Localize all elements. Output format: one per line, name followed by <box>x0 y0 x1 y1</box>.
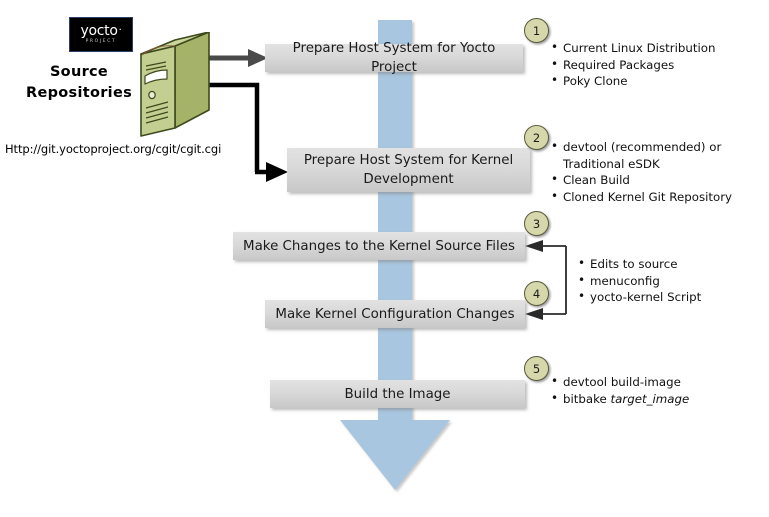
step-badge-2: 2 <box>524 125 549 150</box>
step-box-4[interactable]: Make Kernel Configuration Changes <box>265 300 525 328</box>
source-label-line2: Repositories <box>20 83 138 104</box>
list-item: Poky Clone <box>551 73 715 90</box>
step-3-4-bullet-list: Edits to source menuconfig yocto-kernel … <box>578 256 701 306</box>
list-item-emphasis: target_image <box>611 392 690 406</box>
list-item: Current Linux Distribution <box>551 40 715 57</box>
yocto-logo-subtitle: PROJECT <box>86 39 117 45</box>
list-item: menuconfig <box>578 273 701 290</box>
step-badge-3: 3 <box>524 211 549 236</box>
step-box-5[interactable]: Build the Image <box>270 380 525 408</box>
yocto-logo-word: yocto· <box>81 24 122 38</box>
arrow-server-to-step1 <box>208 49 268 67</box>
step-2-bullet-list: devtool (recommended) or Traditional eSD… <box>551 139 732 205</box>
yocto-project-logo: yocto· PROJECT <box>69 17 133 52</box>
list-item: devtool (recommended) or Traditional eSD… <box>551 139 723 172</box>
main-flow-arrow-icon <box>340 20 460 500</box>
step-box-2[interactable]: Prepare Host System for Kernel Developme… <box>287 148 530 192</box>
feedback-bracket-step3-step4 <box>525 240 566 320</box>
step-badge-5: 5 <box>524 356 549 381</box>
list-item: devtool build-image <box>551 374 689 391</box>
list-item-text: devtool build-image <box>563 375 681 389</box>
list-item: yocto-kernel Script <box>578 289 701 306</box>
step-box-3[interactable]: Make Changes to the Kernel Source Files <box>233 232 525 260</box>
list-item-text: bitbake <box>563 392 611 406</box>
step-box-1[interactable]: Prepare Host System for Yocto Project <box>265 44 523 72</box>
arrow-server-to-step2 <box>208 85 288 182</box>
server-tower-icon <box>133 32 213 140</box>
list-item: bitbake target_image <box>551 391 689 408</box>
list-item: Edits to source <box>578 256 701 273</box>
source-label-line1: Source <box>20 62 138 83</box>
step-1-bullet-list: Current Linux Distribution Required Pack… <box>551 40 715 90</box>
step-badge-4: 4 <box>524 281 549 306</box>
list-item: Clean Build <box>551 172 732 189</box>
source-repositories-url: Http://git.yoctoproject.org/cgit/cgit.cg… <box>5 142 221 156</box>
list-item: Cloned Kernel Git Repository <box>551 189 732 206</box>
step-5-bullet-list: devtool build-image bitbake target_image <box>551 374 689 407</box>
yocto-logo-dot: · <box>119 25 122 36</box>
step-badge-1: 1 <box>524 18 549 43</box>
diagram-canvas: yocto· PROJECT Source Repositories Http:… <box>0 0 769 517</box>
list-item: Required Packages <box>551 57 715 74</box>
source-repositories-label: Source Repositories <box>20 62 138 104</box>
